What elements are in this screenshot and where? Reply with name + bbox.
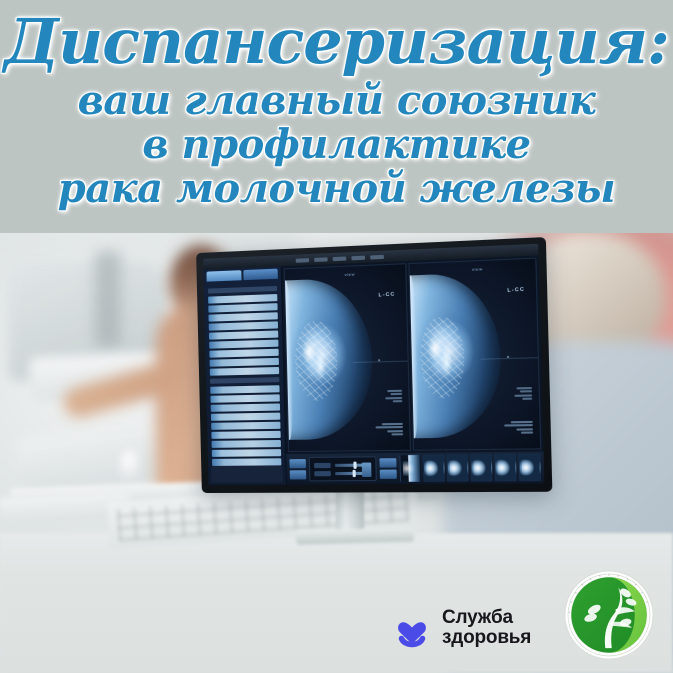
toolbar-button[interactable] (370, 254, 384, 259)
toolbar-button[interactable] (314, 257, 327, 262)
tool-button-group-right (379, 458, 396, 479)
sidebar-tab-1[interactable] (206, 270, 241, 281)
dicom-metadata-upper (514, 386, 532, 400)
dicom-metadata-lower (504, 420, 533, 434)
subtitle-line-1: ваш главный союзник (0, 80, 673, 122)
sidebar-list-2 (209, 385, 282, 466)
viewport-left[interactable]: view L-CC (284, 263, 411, 452)
viewport-view-label: L-CC (507, 286, 525, 294)
dicom-metadata-upper (385, 389, 402, 402)
viewport-top-label: view (472, 266, 483, 272)
list-item[interactable] (209, 340, 278, 349)
green-tree-circle-emblem (563, 569, 655, 661)
thumbnail[interactable] (423, 455, 445, 482)
thumbnail[interactable] (518, 454, 541, 482)
viewport-grid: view L-CC (282, 255, 544, 454)
app-body: view L-CC (203, 255, 544, 485)
viewport-guide-line (353, 361, 408, 363)
list-item[interactable] (211, 404, 280, 412)
list-item[interactable] (212, 449, 281, 457)
sidebar-list-1 (207, 294, 280, 376)
list-item[interactable] (212, 459, 281, 467)
tool-button[interactable] (379, 458, 396, 467)
dicom-metadata-lower (375, 422, 403, 435)
subtitle-line-3: рака молочной железы (0, 168, 673, 210)
list-item[interactable] (210, 358, 279, 367)
poster-root: view L-CC (0, 0, 673, 673)
list-item[interactable] (211, 413, 280, 421)
list-item[interactable] (210, 367, 279, 376)
toolbar-button[interactable] (296, 258, 309, 263)
list-item[interactable] (208, 312, 277, 321)
title-block: Диспансеризация: ваш главный союзник в п… (0, 0, 673, 211)
footer-logos: Служба здоровья (0, 563, 673, 673)
toolbar-button[interactable] (351, 255, 365, 260)
sidebar-section-header-1 (208, 286, 277, 294)
reset-button[interactable] (362, 463, 372, 477)
sidebar-footer (211, 466, 283, 483)
thumbnail[interactable] (494, 454, 517, 482)
viewport-right[interactable]: view L-CC (408, 258, 541, 451)
thumbnail-strip[interactable] (399, 454, 541, 482)
page-title: Диспансеризация: (0, 10, 673, 74)
list-item[interactable] (211, 422, 280, 430)
list-item[interactable] (211, 431, 280, 439)
thumbnail[interactable] (446, 454, 468, 481)
toolbar-button[interactable] (333, 256, 347, 261)
monitor-icon: view L-CC (196, 237, 552, 493)
slider-label (314, 462, 331, 467)
monitor-bezel: view L-CC (196, 237, 552, 493)
mammogram-image (284, 277, 374, 440)
brand-lockup: Служба здоровья (392, 608, 531, 649)
list-item[interactable] (212, 440, 281, 448)
viewport-view-label: L-CC (378, 291, 395, 298)
slider-knob[interactable] (354, 461, 357, 468)
list-item[interactable] (208, 303, 277, 313)
sidebar-tabs (206, 269, 277, 282)
app-sidebar (203, 266, 287, 485)
viewport-top-label: view (344, 272, 355, 278)
slider-label (314, 471, 331, 476)
list-item[interactable] (210, 385, 279, 394)
list-item[interactable] (210, 395, 279, 403)
thumbnail[interactable] (399, 455, 421, 482)
app-bottom-toolbar[interactable] (286, 451, 544, 484)
mammogram-image (408, 272, 502, 439)
list-item[interactable] (208, 294, 277, 304)
slider-knob[interactable] (352, 469, 355, 476)
thumbnail[interactable] (470, 454, 492, 481)
tool-button[interactable] (380, 470, 397, 479)
tool-button[interactable] (290, 470, 307, 479)
heart-smile-icon (392, 608, 432, 648)
sidebar-section-header-2 (210, 377, 279, 384)
window-level-sliders[interactable] (309, 456, 377, 481)
monitor-screen: view L-CC (203, 244, 544, 485)
machine-column (95, 251, 121, 347)
tool-button[interactable] (289, 459, 306, 468)
subtitle-line-2: в профилактике (0, 124, 673, 166)
brand-text: Служба здоровья (442, 608, 531, 649)
image-viewer: view L-CC (282, 255, 545, 484)
list-item[interactable] (209, 321, 278, 330)
brand-line-1: Служба (442, 608, 531, 629)
sidebar-tab-2[interactable] (243, 269, 278, 281)
brand-line-2: здоровья (442, 628, 531, 649)
tool-button-group-left (289, 459, 306, 479)
list-item[interactable] (209, 331, 278, 340)
list-item[interactable] (209, 349, 278, 358)
viewport-guide-line (480, 357, 537, 360)
